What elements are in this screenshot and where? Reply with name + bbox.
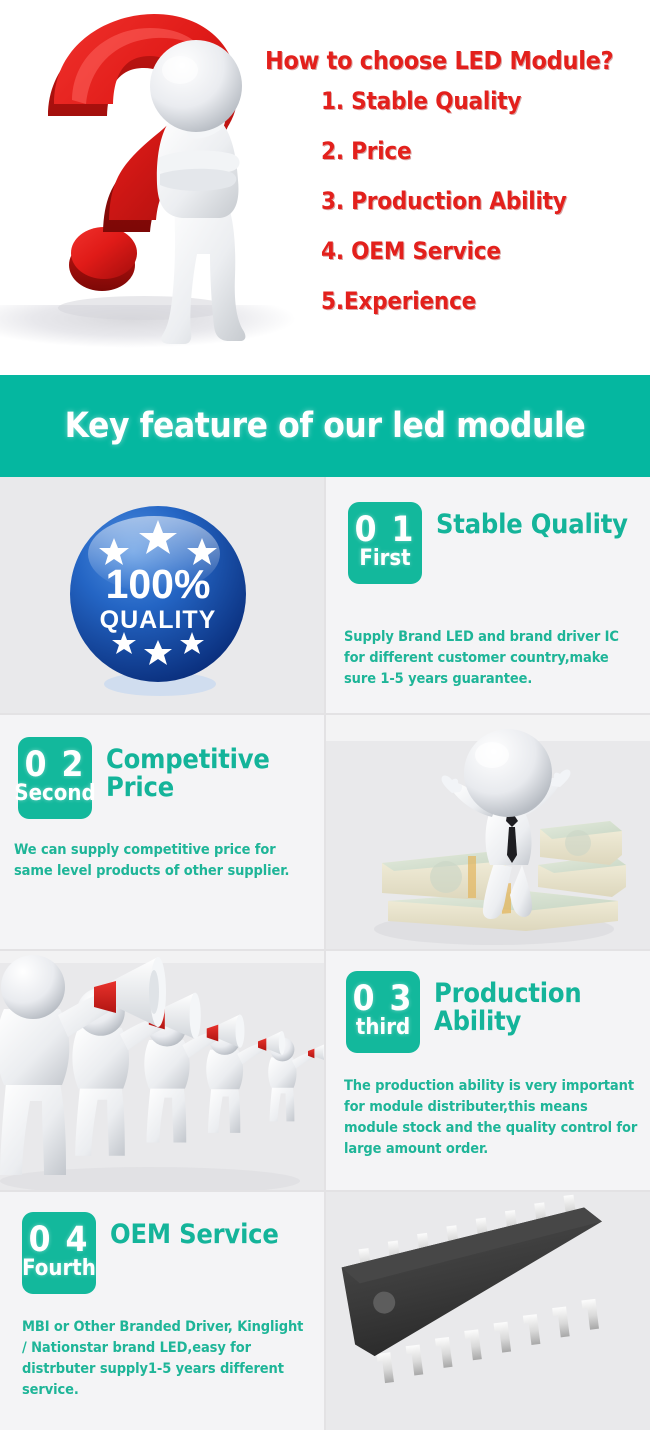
quality-badge-cell: 100% QUALITY bbox=[0, 477, 324, 713]
feature-badge-1: 0 1 First bbox=[348, 502, 422, 584]
hero-text-block: How to choose LED Module? 1. Stable Qual… bbox=[265, 48, 645, 326]
feature-heading-1: Stable Quality bbox=[436, 511, 628, 539]
feature-header-1: 0 1 First Stable Quality bbox=[348, 502, 628, 584]
feature-cell-1: 0 1 First Stable Quality Supply Brand LE… bbox=[326, 477, 650, 713]
hero-list-item-2: 2. Price bbox=[321, 126, 645, 176]
feature-header-2: 0 2 Second Competitive Price bbox=[18, 737, 270, 819]
infographic-page: How to choose LED Module? 1. Stable Qual… bbox=[0, 0, 650, 1430]
feature-cell-2: 0 2 Second Competitive Price We can supp… bbox=[0, 715, 324, 949]
megaphone-crowd-icon bbox=[0, 951, 324, 1190]
feature-word-4: Fourth bbox=[22, 1258, 96, 1280]
money-illustration-cell bbox=[326, 715, 650, 949]
feature-number-4: 0 4 bbox=[29, 1224, 90, 1258]
quality-seal-icon: 100% QUALITY bbox=[62, 502, 258, 698]
feature-cell-3: 0 3 third Production Ability The product… bbox=[326, 951, 650, 1190]
feature-heading-4: OEM Service bbox=[110, 1221, 279, 1249]
feature-body-4: MBI or Other Branded Driver, Kinglight /… bbox=[22, 1317, 312, 1401]
hero-list: 1. Stable Quality 2. Price 3. Production… bbox=[265, 76, 645, 326]
hero-title: How to choose LED Module? bbox=[265, 48, 645, 74]
hero-section: How to choose LED Module? 1. Stable Qual… bbox=[0, 0, 650, 375]
hero-list-item-5: 5.Experience bbox=[321, 276, 645, 326]
feature-body-2: We can supply competitive price for same… bbox=[14, 840, 314, 882]
feature-body-3: The production ability is very important… bbox=[344, 1076, 644, 1160]
crowd-illustration-cell bbox=[0, 951, 324, 1190]
feature-badge-2: 0 2 Second bbox=[18, 737, 92, 819]
feature-badge-3: 0 3 third bbox=[346, 971, 420, 1053]
hero-list-item-3: 3. Production Ability bbox=[321, 176, 645, 226]
banner-title: Key feature of our led module bbox=[65, 406, 586, 446]
feature-word-1: First bbox=[359, 548, 410, 570]
feature-badge-4: 0 4 Fourth bbox=[22, 1212, 96, 1294]
hero-list-item-1: 1. Stable Quality bbox=[321, 76, 645, 126]
feature-heading-2: Competitive Price bbox=[106, 746, 270, 802]
feature-number-2: 0 2 bbox=[25, 749, 86, 783]
feature-body-1: Supply Brand LED and brand driver IC for… bbox=[344, 627, 634, 690]
feature-word-2: Second bbox=[14, 783, 95, 805]
feature-heading-3: Production Ability bbox=[434, 980, 581, 1036]
feature-word-3: third bbox=[356, 1017, 410, 1039]
question-mark-icon bbox=[24, 8, 274, 353]
feature-grid: 100% QUALITY 0 1 First Stable Quality Su… bbox=[0, 477, 650, 1430]
money-stacks-icon bbox=[326, 715, 650, 949]
svg-text:100%: 100% bbox=[106, 561, 211, 607]
section-banner: Key feature of our led module bbox=[0, 375, 650, 477]
feature-header-4: 0 4 Fourth OEM Service bbox=[22, 1212, 279, 1294]
hero-list-item-4: 4. OEM Service bbox=[321, 226, 645, 276]
feature-cell-4: 0 4 Fourth OEM Service MBI or Other Bran… bbox=[0, 1192, 324, 1430]
feature-number-1: 0 1 bbox=[355, 514, 416, 548]
chip-illustration-cell bbox=[326, 1192, 650, 1430]
ic-chip-icon bbox=[326, 1192, 650, 1430]
feature-number-3: 0 3 bbox=[353, 983, 414, 1017]
svg-text:QUALITY: QUALITY bbox=[100, 606, 217, 634]
feature-header-3: 0 3 third Production Ability bbox=[346, 971, 581, 1053]
